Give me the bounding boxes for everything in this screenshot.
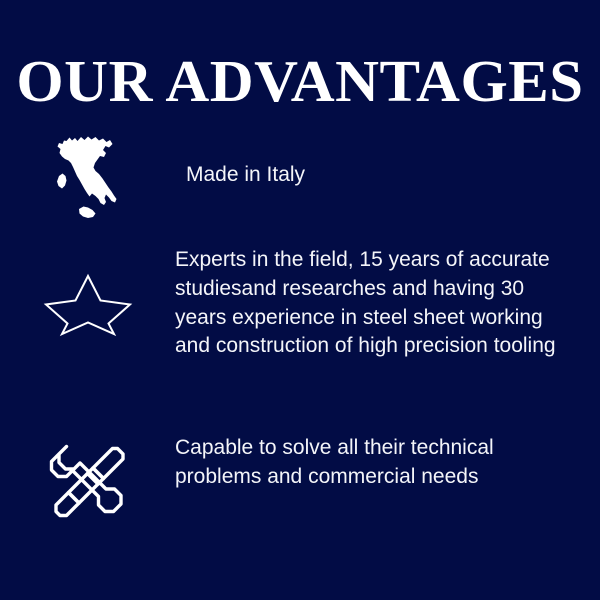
advantage-icon-cell: [0, 428, 175, 526]
advantage-text: Capable to solve all their technical pro…: [175, 434, 567, 492]
advantage-text-cell: Experts in the field, 15 years of accura…: [175, 246, 600, 361]
advantage-icon-cell: [0, 128, 175, 222]
page-title: OUR ADVANTAGES: [0, 50, 600, 112]
star-outline-icon: [42, 273, 134, 337]
advantage-icon-cell: [0, 246, 175, 337]
italy-map-icon: [48, 132, 128, 222]
advantages-poster: OUR ADVANTAGES Made in Italy Experts in …: [0, 0, 600, 600]
advantage-item: Capable to solve all their technical pro…: [0, 428, 600, 526]
advantage-text: Experts in the field, 15 years of accura…: [175, 246, 567, 361]
advantage-text-cell: Made in Italy: [175, 128, 600, 190]
advantage-item: Made in Italy: [0, 128, 600, 222]
advantage-text-cell: Capable to solve all their technical pro…: [175, 428, 600, 492]
advantage-item: Experts in the field, 15 years of accura…: [0, 246, 600, 361]
tools-wrench-screwdriver-icon: [44, 438, 132, 526]
advantage-text: Made in Italy: [186, 161, 578, 190]
